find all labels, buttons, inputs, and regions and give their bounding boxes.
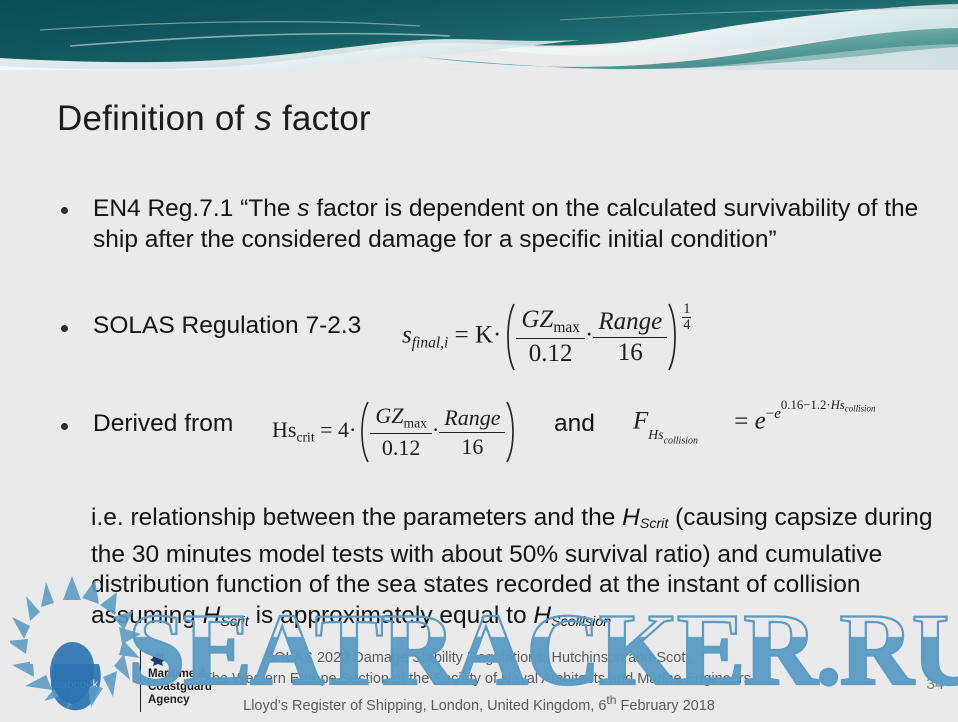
formula-f-exp-top-var: Hs <box>831 398 845 412</box>
formula-hs-crit-left-paren-icon <box>356 400 370 464</box>
formula-hs-crit-den-2: 16 <box>439 433 505 460</box>
formula-hs-crit-coeff: 4 <box>338 417 349 442</box>
formula-hs-crit: Hscrit = 4·GZmax0.12·Range16 <box>272 400 519 464</box>
formula-f-exp-e: e <box>774 406 781 422</box>
formula-hs-crit-fraction-2: Range16 <box>439 405 505 460</box>
formula-hs-crit-mid-dot: · <box>432 417 439 442</box>
formula-f-lhs-sub: Hs <box>648 427 663 442</box>
formula-s-final-mid-dot: · <box>585 322 593 349</box>
watermark-sunburst-logo <box>10 572 160 717</box>
formula-s-final-left-paren-icon <box>501 302 516 372</box>
formula-s-final-exponent: 14 <box>682 302 691 333</box>
formula-f-lhs: F <box>633 408 648 435</box>
formula-f-equals: = <box>734 408 748 435</box>
formula-f-hs-collision: FHscollision = e−e0.16−1.2·Hscollision <box>633 398 875 447</box>
paragraph-h-scrit-1: H <box>622 504 640 531</box>
formula-s-final-num1-sub: max <box>553 319 580 336</box>
paragraph-h-scollision-sub: Scollision <box>551 614 611 630</box>
formula-s-final-k: K <box>475 322 493 349</box>
formula-hs-crit-num1-var: GZ <box>375 403 403 428</box>
footer-line-3-post: February 2018 <box>617 698 715 714</box>
banner-wave-graphic <box>0 0 958 78</box>
formula-f-lhs-subsub: collision <box>664 436 698 447</box>
bullet-marker-en4 <box>61 207 68 214</box>
formula-s-final-equals: = <box>455 322 469 349</box>
formula-s-final-dot: · <box>493 322 501 349</box>
formula-f-exp-top: 0.16−1.2 <box>781 398 826 412</box>
bullet-marker-solas <box>61 325 68 332</box>
page-title: Definition of s factor <box>57 99 371 139</box>
formula-hs-crit-fraction-1: GZmax0.12 <box>370 403 432 460</box>
bullet-en4-pre: EN4 Reg.7.1 “The <box>93 195 297 222</box>
formula-hs-crit-lhs: Hs <box>272 417 296 442</box>
formula-hs-crit-equals: = <box>320 417 332 442</box>
formula-s-final-right-paren-icon <box>667 302 682 372</box>
formula-s-final-num-1: GZmax <box>516 306 585 339</box>
footer-line-3-ordinal: th <box>606 693 616 707</box>
paragraph-h-scrit-2: H <box>203 602 221 629</box>
page-title-prefix: Definition of <box>57 99 254 138</box>
formula-s-final-den-2: 16 <box>593 338 667 367</box>
formula-s-final-lhs-sub: final,i <box>412 335 449 352</box>
page-title-suffix: factor <box>272 99 371 138</box>
bullet-text-solas: SOLAS Regulation 7-2.3 <box>93 310 361 341</box>
paragraph-h-scollision: H <box>533 602 551 629</box>
connector-and-label: and <box>554 408 595 439</box>
page-title-italic-s: s <box>254 99 272 138</box>
formula-hs-crit-num-2: Range <box>439 405 505 433</box>
formula-hs-crit-num1-sub: max <box>403 416 426 431</box>
formula-s-final-fraction-1: GZmax0.12 <box>516 306 585 368</box>
formula-hs-crit-lhs-sub: crit <box>296 429 314 444</box>
paragraph-part-1: i.e. relationship between the parameters… <box>91 504 622 531</box>
closing-paragraph: i.e. relationship between the parameters… <box>91 503 951 637</box>
paragraph-h-scrit-1-sub: Scrit <box>640 516 668 532</box>
formula-f-exp-minus: − <box>766 406 774 422</box>
paragraph-part-3: is approximately equal to <box>249 602 534 629</box>
slide-header-banner <box>0 0 958 78</box>
formula-hs-crit-dot: · <box>349 417 356 442</box>
bullet-text-en4: EN4 Reg.7.1 “The s factor is dependent o… <box>93 193 938 255</box>
bullet-en4-italic-s: s <box>297 195 309 222</box>
formula-s-final-den-1: 0.12 <box>516 339 585 368</box>
page-number: 34 <box>926 676 944 694</box>
bullet-text-derived: Derived from <box>93 408 233 439</box>
formula-s-final-exp-den: 4 <box>682 318 691 333</box>
formula-hs-crit-den-1: 0.12 <box>370 434 432 461</box>
formula-hs-crit-right-paren-icon <box>505 400 519 464</box>
paragraph-h-scrit-2-sub: Scrit <box>220 614 248 630</box>
formula-s-final-num-2: Range <box>593 308 667 338</box>
footer-line-3-pre: Lloyd’s Register of Shipping, London, Un… <box>243 698 606 714</box>
formula-s-final-num1-var: GZ <box>521 306 553 333</box>
formula-hs-crit-num-1: GZmax <box>370 403 432 433</box>
formula-s-final-lhs: s <box>402 322 412 349</box>
bullet-marker-derived <box>61 423 68 430</box>
formula-s-final: sfinal,i = K·GZmax0.12·Range1614 <box>402 302 691 372</box>
formula-s-final-fraction-2: Range16 <box>593 308 667 367</box>
formula-f-exponent-group: −e0.16−1.2·Hscollision <box>766 406 876 422</box>
formula-f-e-base: e <box>755 408 766 435</box>
formula-s-final-exp-num: 1 <box>682 302 691 318</box>
formula-f-exp-top-group: 0.16−1.2·Hscollision <box>781 398 876 412</box>
formula-f-exp-top-sub: collision <box>845 404 876 414</box>
